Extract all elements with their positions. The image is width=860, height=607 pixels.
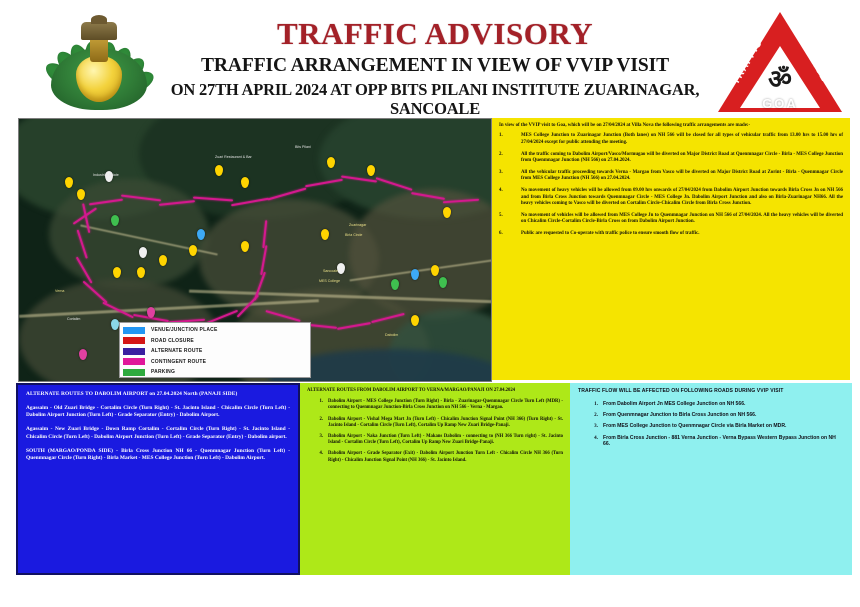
green-item-text: Dabolim Airport - MES College Junction (… [328,399,563,411]
legend-row: CONTINGENT ROUTE [123,357,307,367]
cyan-item-number: 2. [578,412,603,419]
advisory-item: 3. All the vehicular traffic proceeding … [499,170,843,183]
map-label: Industrial Estate [93,173,119,177]
cyan-box-item: 1. From Dabolim Airport Jn MES College J… [578,401,844,408]
advisory-item: 1. MES College Junction to Zuarinagar Ju… [499,133,843,146]
map-label: Zuarinagar [349,223,366,227]
affected-roads-box: TRAFFIC FLOW WILL BE AFFECTED ON FOLLOWI… [570,383,852,575]
legend-row: ROAD CLOSURE [123,336,307,346]
green-item-text: Dabolim Airport - Grade Separator (Exit)… [328,451,563,463]
legend-label: CONTINGENT ROUTE [151,359,206,365]
traffic-police-goa-logo-icon: TRAFFIC POLICE ॐ GOA [712,10,848,116]
green-box-heading: ALTERNATE ROUTES FROM DABOLIM AIRPORT TO… [307,388,563,394]
map-label: MES College [319,279,340,283]
green-item-number: 4. [307,451,328,463]
cyan-item-number: 3. [578,423,603,430]
green-item-number: 3. [307,434,328,446]
satellite-route-map[interactable]: Bits Pilani Zuari Restaurant & Bar Indus… [18,118,492,382]
map-label: Cortalim [67,317,80,321]
advisory-item: 2. All the traffic coming to Dabolim Air… [499,152,843,165]
bottom-boxes-row: ALTERNATE ROUTES TO DABOLIM AIRPORT on 2… [0,381,860,581]
blue-box-paragraph: Agassaim - Old Zuari Bridge - Cortalim C… [26,405,290,419]
advisory-item-number: 1. [499,133,521,146]
advisory-item-number: 6. [499,231,521,237]
advisory-intro: In view of the VVIP visit to Goa, which … [499,123,843,129]
advisory-item-number: 3. [499,170,521,183]
map-label: Verna [55,289,64,293]
legend-row: VENUE/JUNCTION PLACE [123,325,307,335]
map-label: Bits Pilani [295,145,311,149]
green-box-item: 3. Dabolim Airport - Naka Junction (Turn… [307,434,563,446]
cyan-item-text: From Dabolim Airport Jn MES College Junc… [603,401,844,408]
advisory-item-number: 2. [499,152,521,165]
green-item-text: Dabolim Airport - Vishal Mega Mart Jn (T… [328,417,563,429]
poster-titles: TRAFFIC ADVISORY TRAFFIC ARRANGEMENT IN … [155,18,715,119]
advisory-item-text: All the vehicular traffic proceeding tow… [521,170,843,183]
green-box-item: 2. Dabolim Airport - Vishal Mega Mart Jn… [307,417,563,429]
advisory-item-text: All the traffic coming to Dabolim Airpor… [521,152,843,165]
legend-label: PARKING [151,369,175,375]
legend-label: ROAD CLOSURE [151,338,194,344]
advisory-item: 5. No movement of vehicles will be allow… [499,213,843,226]
green-item-text: Dabolim Airport - Naka Junction (Turn Le… [328,434,563,446]
map-legend: VENUE/JUNCTION PLACE ROAD CLOSURE ALTERN… [119,322,311,378]
advisory-item-number: 4. [499,188,521,207]
page-subtitle-2: ON 27TH APRIL 2024 AT OPP BITS PILANI IN… [155,81,715,119]
logo-bottom-text: GOA [740,96,820,111]
cyan-box-heading: TRAFFIC FLOW WILL BE AFFECTED ON FOLLOWI… [578,388,844,395]
advisory-item: 6. Public are requested to Co-operate wi… [499,231,843,237]
advisory-item-number: 5. [499,213,521,226]
legend-label: VENUE/JUNCTION PLACE [151,327,218,333]
map-label: Birla Circle [345,233,362,237]
map-label: Zuari Restaurant & Bar [215,155,252,159]
page-subtitle-1: TRAFFIC ARRANGEMENT IN VIEW OF VVIP VISI… [155,55,715,77]
cyan-item-text: From Birla Cross Junction - 881 Verna Ju… [603,435,844,449]
traffic-advisory-poster: TRAFFIC ADVISORY TRAFFIC ARRANGEMENT IN … [0,0,860,607]
green-box-item: 4. Dabolim Airport - Grade Separator (Ex… [307,451,563,463]
logo-center-glyph: ॐ [768,66,792,94]
goa-police-emblem-icon [45,14,153,114]
legend-swatch [123,369,145,376]
legend-swatch [123,348,145,355]
map-label: Sancoale [323,269,338,273]
advisory-item-text: MES College Junction to Zuarinagar Junct… [521,133,843,146]
legend-swatch [123,327,145,334]
green-item-number: 2. [307,417,328,429]
green-item-number: 1. [307,399,328,411]
advisory-item-text: Public are requested to Co-operate with … [521,231,843,237]
alternate-routes-from-airport-box: ALTERNATE ROUTES FROM DABOLIM AIRPORT TO… [300,383,570,575]
legend-swatch [123,337,145,344]
advisory-item-text: No movement of heavy vehicles will be al… [521,188,843,207]
green-box-item: 1. Dabolim Airport - MES College Junctio… [307,399,563,411]
blue-box-paragraph: SOUTH (MARGAO/PONDA SIDE) - Birla Cross … [26,448,290,462]
cyan-box-item: 2. From Quenmnagar Junction to Birla Cro… [578,412,844,419]
advisory-panel: In view of the VVIP visit to Goa, which … [492,118,850,380]
advisory-item-text: No movement of vehicles will be allowed … [521,213,843,226]
cyan-box-item: 3. From MES College Junction to Quenmnag… [578,423,844,430]
blue-box-heading: ALTERNATE ROUTES TO DABOLIM AIRPORT on 2… [26,391,290,398]
cyan-item-text: From MES College Junction to Quenmnagar … [603,423,844,430]
poster-header: TRAFFIC ADVISORY TRAFFIC ARRANGEMENT IN … [0,0,860,116]
cyan-item-text: From Quenmnagar Junction to Birla Cross … [603,412,844,419]
cyan-item-number: 4. [578,435,603,449]
legend-row: ALTERNATE ROUTE [123,346,307,356]
alternate-routes-to-airport-box: ALTERNATE ROUTES TO DABOLIM AIRPORT on 2… [16,383,300,575]
legend-swatch [123,358,145,365]
cyan-item-number: 1. [578,401,603,408]
blue-box-paragraph: Agassaim - New Zuari Bridge - Down Ramp … [26,426,290,440]
map-label: Dabolim [385,333,398,337]
page-title: TRAFFIC ADVISORY [155,18,715,51]
legend-row: PARKING [123,367,307,377]
advisory-item: 4. No movement of heavy vehicles will be… [499,188,843,207]
cyan-box-item: 4. From Birla Cross Junction - 881 Verna… [578,435,844,449]
legend-label: ALTERNATE ROUTE [151,348,202,354]
